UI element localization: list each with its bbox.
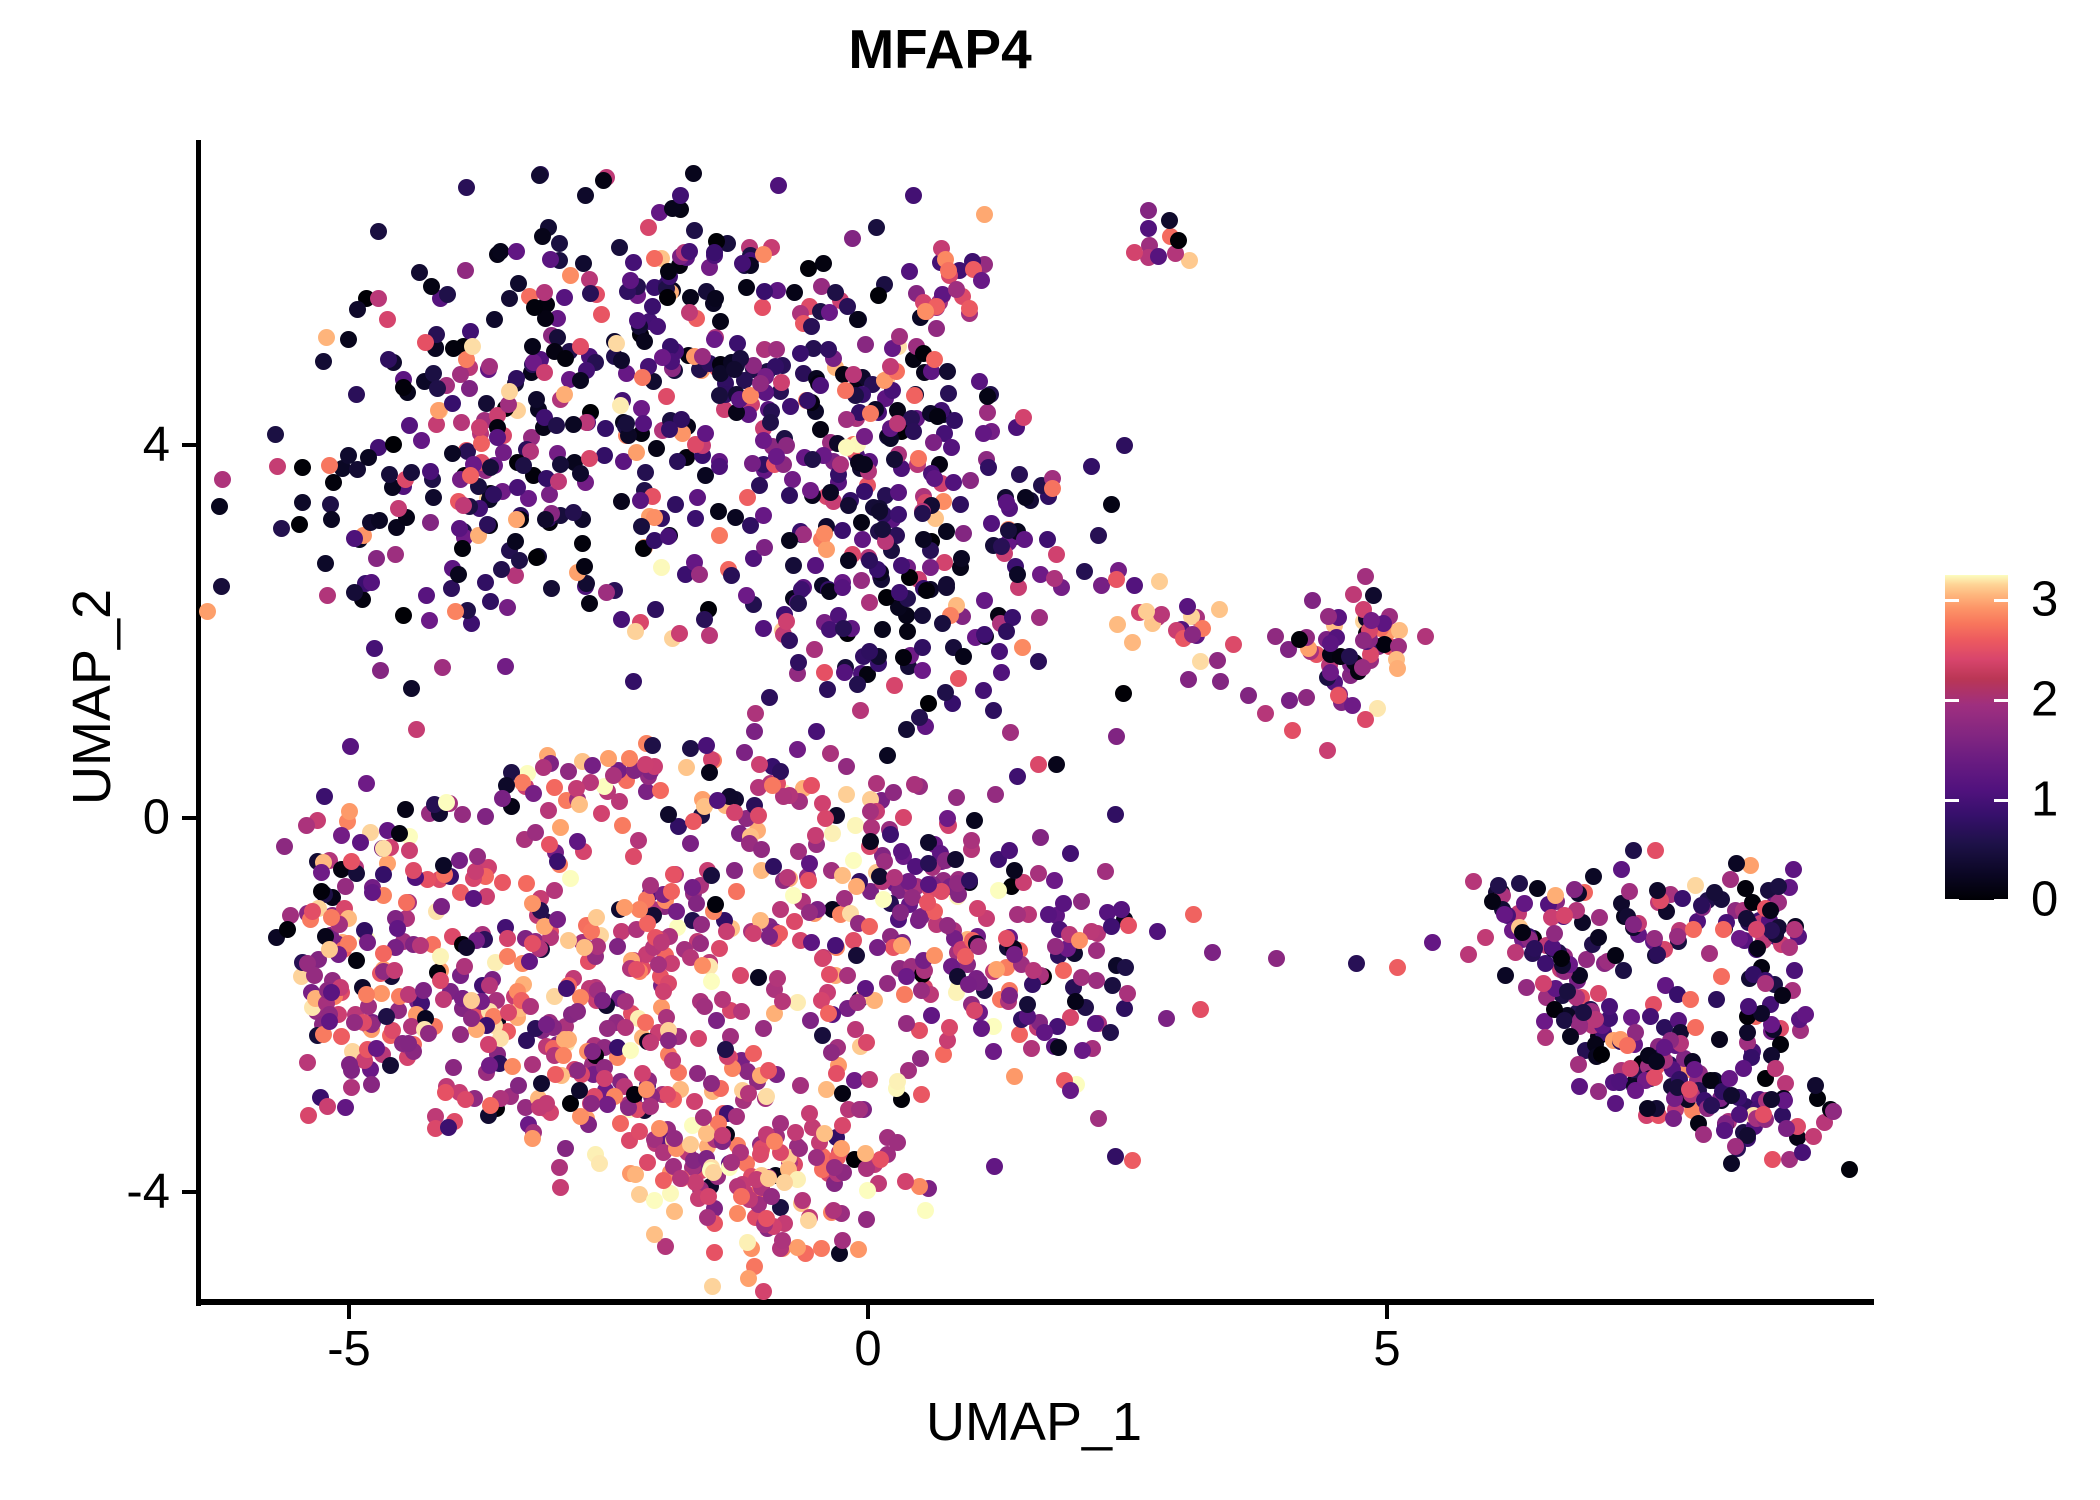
scatter-point — [861, 1071, 878, 1088]
scatter-point — [1556, 907, 1573, 924]
scatter-point — [966, 812, 983, 829]
scatter-point — [1762, 902, 1779, 919]
scatter-point — [379, 311, 396, 328]
scatter-point — [1179, 598, 1196, 615]
scatter-point — [961, 872, 978, 889]
scatter-point — [1180, 671, 1197, 688]
scatter-point — [452, 1026, 469, 1043]
scatter-point — [528, 391, 545, 408]
scatter-point — [682, 835, 699, 852]
scatter-point — [501, 290, 518, 307]
scatter-point — [733, 1003, 750, 1020]
scatter-point — [682, 289, 699, 306]
scatter-point — [1124, 1152, 1141, 1169]
scatter-point — [800, 872, 817, 889]
scatter-point — [659, 289, 676, 306]
scatter-point — [914, 607, 931, 624]
scatter-point — [298, 817, 315, 834]
scatter-point — [535, 759, 552, 776]
scatter-point — [682, 1136, 699, 1153]
scatter-point — [838, 411, 855, 428]
scatter-point — [450, 566, 467, 583]
scatter-point — [755, 1283, 772, 1300]
scatter-point — [291, 516, 308, 533]
scatter-point — [595, 172, 612, 189]
scatter-point — [714, 1127, 731, 1144]
scatter-point — [861, 594, 878, 611]
scatter-point — [628, 444, 645, 461]
scatter-point — [1002, 724, 1019, 741]
scatter-point — [306, 967, 323, 984]
scatter-point — [504, 1058, 521, 1075]
scatter-point — [382, 1057, 399, 1074]
scatter-point — [321, 941, 338, 958]
scatter-point — [375, 840, 392, 857]
scatter-point — [882, 826, 899, 843]
scatter-point — [726, 862, 743, 879]
scatter-point — [572, 338, 589, 355]
scatter-point — [991, 643, 1008, 660]
scatter-point — [789, 741, 806, 758]
scatter-point — [853, 572, 870, 589]
scatter-point — [481, 1057, 498, 1074]
scatter-point — [755, 620, 772, 637]
scatter-point — [617, 1019, 634, 1036]
scatter-point — [754, 299, 771, 316]
scatter-point — [857, 1145, 874, 1162]
scatter-point — [781, 487, 798, 504]
scatter-point — [1030, 653, 1047, 670]
scatter-point — [786, 284, 803, 301]
scatter-point — [1055, 962, 1072, 979]
scatter-point — [940, 262, 957, 279]
scatter-point — [661, 421, 678, 438]
scatter-point — [1535, 975, 1552, 992]
scatter-point — [637, 1014, 654, 1031]
scatter-point — [1571, 1078, 1588, 1095]
scatter-point — [891, 328, 908, 345]
scatter-point — [463, 1010, 480, 1027]
scatter-point — [976, 626, 993, 643]
colorbar-tick-mark — [1994, 599, 2008, 602]
scatter-point — [807, 827, 824, 844]
scatter-point — [508, 511, 525, 528]
scatter-point — [597, 420, 614, 437]
scatter-point — [729, 1205, 746, 1222]
scatter-point — [711, 387, 728, 404]
scatter-point — [728, 1108, 745, 1125]
scatter-point — [671, 625, 688, 642]
scatter-point — [1556, 1012, 1573, 1029]
scatter-point — [453, 414, 470, 431]
scatter-point — [772, 901, 789, 918]
scatter-point — [625, 673, 642, 690]
scatter-point — [859, 1182, 876, 1199]
scatter-point — [750, 969, 767, 986]
scatter-point — [660, 1032, 677, 1049]
scatter-point — [856, 483, 873, 500]
scatter-point — [847, 817, 864, 834]
scatter-point — [276, 838, 293, 855]
scatter-point — [896, 986, 913, 1003]
scatter-point — [911, 909, 928, 926]
scatter-point — [960, 976, 977, 993]
scatter-point — [913, 982, 930, 999]
scatter-point — [768, 448, 785, 465]
scatter-point — [789, 1239, 806, 1256]
scatter-point — [1727, 1138, 1744, 1155]
scatter-point — [821, 304, 838, 321]
scatter-point — [1062, 845, 1079, 862]
scatter-point — [1046, 570, 1063, 587]
scatter-point — [1785, 861, 1802, 878]
scatter-point — [682, 740, 699, 757]
scatter-point — [556, 289, 573, 306]
scatter-point — [1786, 962, 1803, 979]
scatter-point — [1716, 1122, 1733, 1139]
scatter-point — [1357, 711, 1374, 728]
scatter-point — [625, 848, 642, 865]
scatter-point — [766, 1133, 783, 1150]
scatter-point — [557, 350, 574, 367]
scatter-point — [746, 723, 763, 740]
scatter-point — [432, 948, 449, 965]
scatter-point — [612, 1115, 629, 1132]
scatter-point — [763, 1188, 780, 1205]
scatter-point — [451, 852, 468, 869]
scatter-point — [637, 756, 654, 773]
scatter-point — [803, 318, 820, 335]
scatter-point — [634, 1065, 651, 1082]
scatter-point — [447, 603, 464, 620]
scatter-point — [1547, 887, 1564, 904]
scatter-point — [1354, 659, 1371, 676]
scatter-point — [401, 417, 418, 434]
scatter-point — [988, 961, 1005, 978]
x-tick-label: -5 — [327, 1325, 371, 1374]
scatter-point — [386, 962, 403, 979]
y-tick-label: -4 — [126, 1168, 170, 1217]
scatter-point — [700, 1188, 717, 1205]
scatter-point — [698, 737, 715, 754]
scatter-point — [524, 1056, 541, 1073]
scatter-point — [801, 904, 818, 921]
scatter-point — [294, 494, 311, 511]
scatter-point — [906, 387, 923, 404]
scatter-point — [342, 738, 359, 755]
scatter-point — [1281, 692, 1298, 709]
scatter-point — [1585, 868, 1602, 885]
scatter-point — [705, 1164, 722, 1181]
scatter-point — [565, 504, 582, 521]
scatter-point — [1126, 577, 1143, 594]
scatter-point — [814, 1027, 831, 1044]
scatter-point — [373, 985, 390, 1002]
scatter-point — [524, 895, 541, 912]
scatter-point — [464, 338, 481, 355]
scatter-point — [703, 1075, 720, 1092]
colorbar-label-3: 3 — [2031, 576, 2058, 625]
scatter-point — [660, 528, 677, 545]
x-axis-title: UMAP_1 — [196, 1395, 1872, 1449]
scatter-point — [943, 439, 960, 456]
scatter-point — [857, 336, 874, 353]
scatter-point — [1212, 673, 1229, 690]
scatter-point — [760, 1170, 777, 1187]
scatter-point — [868, 219, 885, 236]
scatter-point — [499, 948, 516, 965]
scatter-point — [458, 939, 475, 956]
scatter-point — [1090, 527, 1107, 544]
scatter-point — [990, 882, 1007, 899]
y-tick-label: 0 — [143, 794, 170, 843]
scatter-point — [893, 937, 910, 954]
scatter-point — [584, 757, 601, 774]
scatter-point — [690, 1030, 707, 1047]
scatter-point — [872, 1151, 889, 1168]
scatter-point — [669, 453, 686, 470]
scatter-point — [543, 580, 560, 597]
scatter-point — [1728, 855, 1745, 872]
scatter-point — [845, 852, 862, 869]
scatter-point — [845, 366, 862, 383]
scatter-point — [420, 1025, 437, 1042]
scatter-point — [635, 415, 652, 432]
scatter-point — [708, 1012, 725, 1029]
scatter-point — [834, 1232, 851, 1249]
scatter-point — [405, 862, 422, 879]
scatter-point — [917, 303, 934, 320]
scatter-point — [608, 335, 625, 352]
scatter-point — [389, 920, 406, 937]
scatter-point — [774, 1232, 791, 1249]
scatter-point — [482, 593, 499, 610]
scatter-point — [752, 1146, 769, 1163]
scatter-point — [550, 473, 567, 490]
scatter-point — [732, 967, 749, 984]
scatter-point — [837, 382, 854, 399]
scatter-point — [1497, 967, 1514, 984]
scatter-point — [1537, 1029, 1554, 1046]
scatter-point — [822, 484, 839, 501]
scatter-point — [525, 785, 542, 802]
scatter-point — [576, 939, 593, 956]
scatter-point — [1116, 1000, 1133, 1017]
scatter-point — [650, 956, 667, 973]
scatter-point — [422, 514, 439, 531]
scatter-point — [895, 649, 912, 666]
scatter-point — [882, 358, 899, 375]
scatter-point — [776, 1174, 793, 1191]
scatter-point — [813, 1240, 830, 1257]
scatter-point — [533, 1075, 550, 1092]
scatter-point — [819, 681, 836, 698]
scatter-point — [1102, 1024, 1119, 1041]
scatter-point — [1006, 1068, 1023, 1085]
scatter-point — [1706, 884, 1723, 901]
scatter-point — [628, 961, 645, 978]
scatter-point — [493, 561, 510, 578]
scatter-point — [807, 557, 824, 574]
scatter-point — [835, 620, 852, 637]
scatter-point — [637, 464, 654, 481]
scatter-point — [701, 764, 718, 781]
scatter-point — [1553, 950, 1570, 967]
scatter-point — [625, 254, 642, 271]
scatter-point — [318, 329, 335, 346]
colorbar-label-1: 1 — [2031, 776, 2058, 825]
scatter-point — [560, 932, 577, 949]
scatter-point — [1570, 1056, 1587, 1073]
scatter-point — [861, 643, 878, 660]
scatter-point — [781, 632, 798, 649]
scatter-point — [1055, 895, 1072, 912]
scatter-point — [337, 1099, 354, 1116]
scatter-point — [712, 313, 729, 330]
scatter-point — [897, 1173, 914, 1190]
colorbar-label-2: 2 — [2031, 676, 2058, 725]
scatter-point — [929, 408, 946, 425]
scatter-point — [467, 863, 484, 880]
scatter-point — [985, 1043, 1002, 1060]
scatter-point — [358, 986, 375, 1003]
scatter-point — [630, 832, 647, 849]
scatter-point — [313, 883, 330, 900]
scatter-point — [1140, 202, 1157, 219]
scatter-point — [1715, 921, 1732, 938]
scatter-point — [1575, 1004, 1592, 1021]
scatter-point — [1516, 895, 1533, 912]
scatter-point — [681, 304, 698, 321]
scatter-point — [588, 909, 605, 926]
scatter-point — [886, 451, 903, 468]
scatter-point — [979, 388, 996, 405]
scatter-point — [706, 1244, 723, 1261]
scatter-point — [874, 621, 891, 638]
scatter-point — [577, 187, 594, 204]
scatter-point — [660, 263, 677, 280]
scatter-point — [840, 497, 857, 514]
scatter-point — [1011, 466, 1028, 483]
scatter-point — [1109, 616, 1126, 633]
scatter-point — [738, 279, 755, 296]
scatter-point — [792, 345, 809, 362]
scatter-point — [649, 318, 666, 335]
scatter-point — [1465, 873, 1482, 890]
scatter-point — [413, 432, 430, 449]
scatter-point — [642, 877, 659, 894]
scatter-point — [790, 654, 807, 671]
scatter-point — [915, 531, 932, 548]
scatter-point — [211, 498, 228, 515]
scatter-point — [1126, 244, 1143, 261]
scatter-point — [273, 520, 290, 537]
scatter-point — [1781, 939, 1798, 956]
scatter-point — [706, 244, 723, 261]
scatter-point — [1681, 1081, 1698, 1098]
scatter-point — [926, 947, 943, 964]
scatter-point — [1019, 996, 1036, 1013]
scatter-point — [939, 917, 956, 934]
scatter-point — [1739, 1024, 1756, 1041]
scatter-point — [576, 558, 593, 575]
scatter-point — [486, 311, 503, 328]
scatter-point — [889, 1134, 906, 1151]
scatter-point — [750, 807, 767, 824]
scatter-point — [861, 918, 878, 935]
scatter-point — [634, 369, 651, 386]
scatter-point — [1593, 1046, 1610, 1063]
scatter-point — [752, 375, 769, 392]
scatter-point — [998, 623, 1015, 640]
scatter-point — [1391, 622, 1408, 639]
scatter-point — [711, 458, 728, 475]
scatter-point — [358, 775, 375, 792]
scatter-point — [955, 648, 972, 665]
scatter-point — [802, 482, 819, 499]
scatter-point — [454, 806, 471, 823]
scatter-point — [1170, 232, 1187, 249]
scatter-point — [838, 439, 855, 456]
scatter-point — [886, 869, 903, 886]
scatter-point — [497, 658, 514, 675]
scatter-point — [891, 584, 908, 601]
scatter-point — [1001, 842, 1018, 859]
scatter-point — [616, 899, 633, 916]
scatter-point — [552, 1179, 569, 1196]
scatter-point — [760, 1062, 777, 1079]
scatter-point — [494, 874, 511, 891]
scatter-point — [457, 1091, 474, 1108]
scatter-point — [839, 298, 856, 315]
scatter-point — [538, 1095, 555, 1112]
scatter-point — [333, 1028, 350, 1045]
scatter-point — [893, 557, 910, 574]
scatter-point — [267, 426, 284, 443]
scatter-point — [879, 975, 896, 992]
scatter-point — [1526, 940, 1543, 957]
scatter-point — [785, 887, 802, 904]
scatter-point — [856, 428, 873, 445]
scatter-point — [697, 425, 714, 442]
scatter-point — [849, 676, 866, 693]
scatter-point — [398, 894, 415, 911]
scatter-point — [792, 1077, 809, 1094]
scatter-point — [562, 267, 579, 284]
scatter-point — [551, 235, 568, 252]
scatter-point — [666, 1130, 683, 1147]
scatter-point — [439, 286, 456, 303]
scatter-point — [1149, 923, 1166, 940]
scatter-point — [507, 567, 524, 584]
scatter-point — [834, 522, 851, 539]
scatter-point — [455, 497, 472, 514]
scatter-point — [1001, 987, 1018, 1004]
scatter-point — [594, 992, 611, 1009]
scatter-point — [703, 973, 720, 990]
scatter-point — [832, 456, 849, 473]
scatter-point — [1103, 496, 1120, 513]
scatter-point — [769, 970, 786, 987]
scatter-point — [461, 380, 478, 397]
scatter-point — [799, 392, 816, 409]
scatter-point — [633, 400, 650, 417]
scatter-point — [986, 1158, 1003, 1175]
scatter-point — [672, 187, 689, 204]
scatter-point — [454, 540, 471, 557]
scatter-point — [738, 587, 755, 604]
scatter-point — [817, 810, 834, 827]
